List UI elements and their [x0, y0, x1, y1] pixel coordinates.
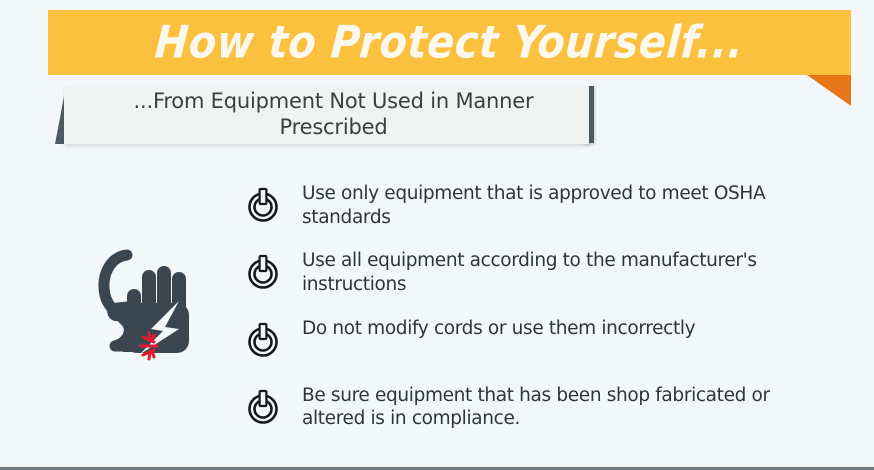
subtitle-container: ...From Equipment Not Used in Manner Pre…	[55, 84, 595, 146]
slide-canvas: How to Protect Yourself... ...From Equip…	[0, 0, 874, 470]
list-item: Use only equipment that is approved to m…	[246, 181, 846, 229]
title-banner: How to Protect Yourself...	[48, 10, 851, 75]
list-item: Use all equipment according to the manuf…	[246, 248, 846, 296]
bullet-list: Use only equipment that is approved to m…	[246, 181, 846, 450]
list-item-label: Do not modify cords or use them incorrec…	[302, 316, 695, 341]
power-button-icon	[246, 318, 280, 358]
subtitle-box: ...From Equipment Not Used in Manner Pre…	[64, 86, 589, 144]
list-item: Do not modify cords or use them incorrec…	[246, 316, 846, 364]
power-button-icon	[246, 385, 280, 425]
subtitle-text: ...From Equipment Not Used in Manner Pre…	[94, 89, 573, 140]
corner-fold-triangle-icon	[807, 75, 851, 106]
list-item-label: Use all equipment according to the manuf…	[302, 248, 822, 296]
electric-shock-hand-cord-icon	[83, 243, 205, 375]
list-item-label: Be sure equipment that has been shop fab…	[302, 383, 822, 431]
power-button-icon	[246, 250, 280, 290]
list-item-label: Use only equipment that is approved to m…	[302, 181, 822, 229]
list-item: Be sure equipment that has been shop fab…	[246, 383, 846, 431]
power-button-icon	[246, 183, 280, 223]
page-title: How to Protect Yourself...	[154, 20, 746, 65]
